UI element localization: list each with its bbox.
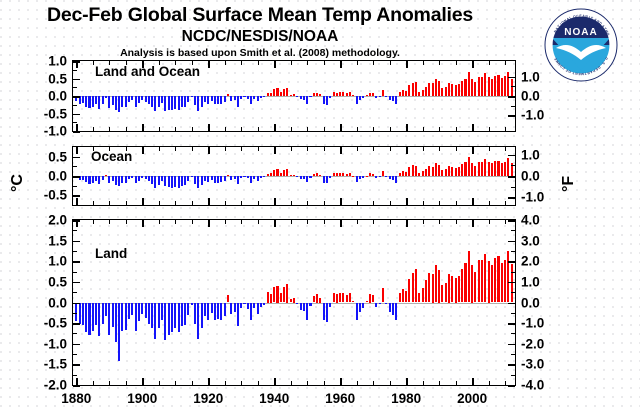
y-tick-label-right: -1.0 xyxy=(521,108,544,123)
panel-label-land-and-ocean: Land and Ocean xyxy=(95,64,200,79)
bar-1987 xyxy=(428,83,430,96)
bar-1983 xyxy=(415,82,417,96)
x-tick-top xyxy=(340,61,342,68)
bar-1978 xyxy=(399,173,401,176)
y-tick-right xyxy=(508,197,515,199)
x-tick-top xyxy=(225,147,226,151)
bar-1994 xyxy=(451,167,453,176)
bar-2006 xyxy=(491,163,493,176)
bar-1919 xyxy=(204,176,206,181)
bar-1882 xyxy=(82,303,84,326)
x-tick-top xyxy=(175,220,176,224)
y-tick-label-left: -0.5 xyxy=(44,316,67,331)
y-tick-label-left: -0.5 xyxy=(44,106,67,121)
bar-1926 xyxy=(227,295,229,302)
bar-1903 xyxy=(151,303,153,329)
x-tick-top xyxy=(274,147,276,154)
x-tick-top xyxy=(142,147,144,154)
bar-1884 xyxy=(88,303,90,335)
x-tick-top xyxy=(291,147,292,151)
bar-2010 xyxy=(504,162,506,176)
bar-1932 xyxy=(247,96,249,99)
bar-1942 xyxy=(280,92,282,96)
x-tick-bottom xyxy=(423,201,424,205)
x-tick-top xyxy=(472,61,474,68)
bar-2001 xyxy=(474,272,476,303)
bar-1886 xyxy=(95,176,97,181)
y-tick-label-left: -0.5 xyxy=(44,188,67,203)
bar-1961 xyxy=(342,293,344,302)
x-tick-top xyxy=(274,220,276,227)
bar-1972 xyxy=(379,96,381,97)
bar-1890 xyxy=(108,96,110,108)
bar-1885 xyxy=(92,176,94,183)
bar-1895 xyxy=(125,96,127,107)
bar-1960 xyxy=(339,293,341,303)
bar-2004 xyxy=(484,254,486,303)
bar-1972 xyxy=(379,176,381,177)
x-tick-top xyxy=(175,147,176,151)
bar-1996 xyxy=(458,167,460,176)
y-tick-label-right: 1.0 xyxy=(521,69,540,84)
bar-1965 xyxy=(356,96,358,104)
x-tick-bottom xyxy=(357,201,358,205)
y-tick-minor-left xyxy=(73,87,77,88)
bar-1886 xyxy=(95,303,97,326)
bar-1966 xyxy=(359,303,361,313)
x-tick-bottom xyxy=(406,378,408,385)
bar-1992 xyxy=(445,283,447,303)
bar-1885 xyxy=(92,303,94,332)
y-axis-unit-fahrenheit: °F xyxy=(560,176,578,192)
bar-1993 xyxy=(448,274,450,303)
bar-1944 xyxy=(286,284,288,303)
y-tick-label-right: 1.0 xyxy=(521,147,540,162)
bar-1910 xyxy=(174,96,176,109)
bar-1954 xyxy=(319,298,321,302)
y-tick-minor-right xyxy=(511,86,515,87)
x-tick-top xyxy=(456,220,457,224)
bar-1939 xyxy=(270,173,272,176)
bar-1950 xyxy=(306,303,308,320)
y-tick-right xyxy=(508,344,515,346)
bar-1951 xyxy=(309,303,311,306)
bar-1937 xyxy=(263,96,265,97)
x-tick-top xyxy=(291,61,292,65)
x-tick-bottom xyxy=(225,201,226,205)
bar-1998 xyxy=(464,263,466,303)
bar-1921 xyxy=(211,176,213,180)
bar-1953 xyxy=(316,93,318,97)
bar-1940 xyxy=(273,170,275,176)
panel-ocean: Ocean 0.50.0-0.51.00.0-1.0 xyxy=(72,146,516,206)
bar-1965 xyxy=(356,303,358,320)
bar-1976 xyxy=(392,176,394,180)
bar-1919 xyxy=(204,96,206,102)
bar-1899 xyxy=(138,303,140,322)
bar-1976 xyxy=(392,96,394,101)
bar-1938 xyxy=(267,292,269,302)
bar-1970 xyxy=(372,295,374,302)
bar-1922 xyxy=(214,176,216,183)
bar-2000 xyxy=(471,265,473,302)
bar-2004 xyxy=(484,73,486,96)
y-tick-left xyxy=(73,323,80,325)
bar-1974 xyxy=(385,176,387,177)
bar-1894 xyxy=(121,303,123,332)
x-tick-top xyxy=(208,61,210,68)
bar-1990 xyxy=(438,270,440,303)
noaa-logo-icon: NOAA N A T I O N A L O C E A N I C xyxy=(544,8,618,82)
x-tick-top xyxy=(357,147,358,151)
bar-1953 xyxy=(316,173,318,176)
bar-1961 xyxy=(342,173,344,176)
bar-1959 xyxy=(336,173,338,176)
bar-1909 xyxy=(171,303,173,333)
x-tick-bottom xyxy=(307,127,308,131)
x-tick-label: 1900 xyxy=(127,391,157,406)
bar-1966 xyxy=(359,96,361,100)
x-tick-top xyxy=(340,220,342,227)
x-tick-bottom xyxy=(258,127,259,131)
bar-1920 xyxy=(207,176,209,182)
bar-1918 xyxy=(201,176,203,185)
bar-1989 xyxy=(435,163,437,176)
panel-land: Land 2.01.51.00.50.0-0.5-1.0-1.5-2.04.03… xyxy=(72,219,516,386)
y-tick-minor-left xyxy=(73,292,77,293)
x-tick-top xyxy=(109,220,110,224)
bar-1978 xyxy=(399,92,401,96)
x-tick-bottom xyxy=(241,381,242,385)
bar-1998 xyxy=(464,162,466,176)
bar-1931 xyxy=(243,96,245,97)
bar-1987 xyxy=(428,273,430,303)
x-tick-bottom xyxy=(439,201,440,205)
panel-label-land: Land xyxy=(95,246,127,261)
bar-2008 xyxy=(497,161,499,176)
bar-1991 xyxy=(441,285,443,302)
bar-1896 xyxy=(128,96,130,102)
bar-1946 xyxy=(293,298,295,302)
bar-1986 xyxy=(425,169,427,176)
bar-2002 xyxy=(478,77,480,96)
bar-2004 xyxy=(484,159,486,176)
bar-1973 xyxy=(382,90,384,96)
x-tick-top xyxy=(324,61,325,65)
bar-1915 xyxy=(191,176,193,177)
y-tick-minor-right xyxy=(511,251,515,252)
x-tick-bottom xyxy=(258,381,259,385)
y-tick-left xyxy=(73,195,80,197)
bar-1955 xyxy=(323,303,325,320)
bar-1983 xyxy=(415,166,417,176)
bar-2002 xyxy=(478,162,480,176)
bar-1927 xyxy=(230,176,232,180)
y-tick-label-right: 4.0 xyxy=(521,213,540,228)
bar-1963 xyxy=(349,173,351,176)
x-tick-bottom xyxy=(324,127,325,131)
bar-1995 xyxy=(455,278,457,303)
bar-2001 xyxy=(474,166,476,176)
y-tick-minor-right xyxy=(511,292,515,293)
y-tick-label-left: 0.0 xyxy=(48,295,67,310)
bar-1974 xyxy=(385,96,387,97)
bar-2009 xyxy=(501,263,503,303)
x-tick-bottom xyxy=(390,201,391,205)
x-tick-bottom xyxy=(307,381,308,385)
x-tick-top xyxy=(406,61,408,68)
bar-1912 xyxy=(181,96,183,107)
bar-1890 xyxy=(108,303,110,335)
bar-1994 xyxy=(451,276,453,302)
y-tick-minor-left xyxy=(73,251,77,252)
x-tick-top xyxy=(225,220,226,224)
x-tick-bottom xyxy=(93,127,94,131)
x-tick-top xyxy=(390,61,391,65)
x-tick-top xyxy=(208,220,210,227)
x-tick-bottom xyxy=(340,124,342,131)
bar-1946 xyxy=(293,175,295,176)
bar-1959 xyxy=(336,294,338,302)
bar-1916 xyxy=(194,176,196,184)
x-tick-label: 1920 xyxy=(193,391,223,406)
bar-1919 xyxy=(204,303,206,316)
bar-1993 xyxy=(448,83,450,96)
x-tick-bottom xyxy=(489,201,490,205)
x-tick-bottom xyxy=(192,381,193,385)
bar-1963 xyxy=(349,92,351,96)
y-tick-right xyxy=(508,261,515,263)
y-tick-left xyxy=(73,344,80,346)
bar-1987 xyxy=(428,166,430,176)
y-tick-left xyxy=(73,131,80,133)
bar-1882 xyxy=(82,96,84,103)
bar-1901 xyxy=(145,96,147,102)
bar-1917 xyxy=(197,96,199,111)
x-tick-bottom xyxy=(159,127,160,131)
chart-canvas: Dec-Feb Global Surface Mean Temp Anomali… xyxy=(0,0,640,413)
bar-1880 xyxy=(75,303,77,322)
bar-1934 xyxy=(253,176,255,179)
y-tick-label-right: -3.0 xyxy=(521,357,544,372)
bar-1925 xyxy=(224,303,226,316)
bar-1941 xyxy=(276,286,278,303)
x-tick-bottom xyxy=(274,124,276,131)
bar-1964 xyxy=(352,95,354,96)
x-tick-top xyxy=(324,147,325,151)
bar-1884 xyxy=(88,96,90,108)
y-tick-right xyxy=(508,241,515,243)
bar-1935 xyxy=(257,303,259,315)
bar-1893 xyxy=(118,176,120,186)
bar-1890 xyxy=(108,176,110,183)
x-tick-bottom xyxy=(93,381,94,385)
bar-1942 xyxy=(280,173,282,176)
bar-1945 xyxy=(290,299,292,302)
bar-1996 xyxy=(458,84,460,96)
x-tick-top xyxy=(76,61,78,68)
y-tick-label-right: 1.0 xyxy=(521,274,540,289)
bar-2008 xyxy=(497,75,499,96)
x-tick-top xyxy=(472,220,474,227)
y-tick-label-right: 3.0 xyxy=(521,233,540,248)
bar-1948 xyxy=(300,176,302,179)
x-tick-bottom xyxy=(258,201,259,205)
agency-subtitle: NCDC/NESDIS/NOAA xyxy=(0,28,520,46)
x-tick-top xyxy=(274,61,276,68)
bar-1897 xyxy=(131,303,133,315)
x-tick-bottom xyxy=(439,381,440,385)
bar-1963 xyxy=(349,293,351,303)
y-tick-minor-left xyxy=(73,313,77,314)
bar-1965 xyxy=(356,176,358,182)
y-tick-minor-right xyxy=(511,313,515,314)
bar-1936 xyxy=(260,303,262,307)
bar-1934 xyxy=(253,303,255,309)
x-tick-bottom xyxy=(357,127,358,131)
y-tick-minor-right xyxy=(511,333,515,334)
x-tick-top xyxy=(258,220,259,224)
bar-1989 xyxy=(435,79,437,96)
bar-1940 xyxy=(273,89,275,96)
bar-1995 xyxy=(455,85,457,96)
bar-1935 xyxy=(257,176,259,181)
bar-1899 xyxy=(138,176,140,181)
x-tick-top xyxy=(505,61,506,65)
x-tick-bottom xyxy=(225,127,226,131)
bar-1905 xyxy=(158,303,160,329)
x-tick-bottom xyxy=(93,201,94,205)
x-tick-bottom xyxy=(126,381,127,385)
bar-1968 xyxy=(366,301,368,303)
x-tick-bottom xyxy=(505,381,506,385)
x-tick-bottom xyxy=(324,381,325,385)
y-tick-label-right: 0.0 xyxy=(521,89,540,104)
x-tick-bottom xyxy=(76,198,78,205)
bar-1884 xyxy=(88,176,90,184)
x-tick-top xyxy=(472,147,474,154)
y-tick-label-right: -4.0 xyxy=(521,378,544,393)
x-tick-label: 1960 xyxy=(325,391,355,406)
bar-1957 xyxy=(329,176,331,178)
x-tick-bottom xyxy=(505,127,506,131)
y-tick-minor-right xyxy=(511,354,515,355)
x-tick-bottom xyxy=(307,201,308,205)
bar-1989 xyxy=(435,265,437,303)
bar-1997 xyxy=(461,269,463,303)
bar-1924 xyxy=(220,96,222,104)
bar-1980 xyxy=(405,291,407,303)
x-tick-top xyxy=(505,147,506,151)
y-tick-minor-right xyxy=(511,106,515,107)
x-tick-bottom xyxy=(142,198,144,205)
bar-1907 xyxy=(164,176,166,186)
x-tick-bottom xyxy=(390,381,391,385)
y-tick-minor-left xyxy=(73,354,77,355)
bar-1911 xyxy=(178,303,180,333)
bar-1888 xyxy=(102,303,104,324)
x-tick-bottom xyxy=(340,378,342,385)
bar-1991 xyxy=(441,88,443,96)
x-tick-top xyxy=(373,220,374,224)
bar-1889 xyxy=(105,175,107,176)
bar-1907 xyxy=(164,96,166,111)
plot-area-ocean xyxy=(73,147,515,205)
x-tick-bottom xyxy=(208,198,210,205)
x-tick-top xyxy=(406,220,408,227)
bar-1958 xyxy=(333,173,335,176)
x-tick-top xyxy=(505,220,506,224)
bar-1974 xyxy=(385,303,387,305)
bar-1949 xyxy=(303,96,305,100)
x-tick-bottom xyxy=(456,127,457,131)
bar-1938 xyxy=(267,93,269,97)
bar-1957 xyxy=(329,303,331,308)
x-tick-top xyxy=(357,220,358,224)
bar-1908 xyxy=(168,96,170,110)
bar-1948 xyxy=(300,96,302,99)
bar-1975 xyxy=(389,96,391,100)
x-tick-top xyxy=(192,147,193,151)
x-tick-bottom xyxy=(76,124,78,131)
bar-1976 xyxy=(392,303,394,315)
x-tick-top xyxy=(439,220,440,224)
x-tick-top xyxy=(208,147,210,154)
y-tick-right xyxy=(508,385,515,387)
bar-2010 xyxy=(504,76,506,96)
bar-1935 xyxy=(257,96,259,101)
bar-1966 xyxy=(359,176,361,179)
bar-1969 xyxy=(369,294,371,302)
bar-1899 xyxy=(138,96,140,103)
bar-1915 xyxy=(191,303,193,305)
bar-1897 xyxy=(131,176,133,178)
bar-1956 xyxy=(326,303,328,323)
bar-1920 xyxy=(207,96,209,104)
y-tick-label-left: 0.0 xyxy=(48,89,67,104)
y-tick-minor-left xyxy=(73,105,77,106)
bar-2003 xyxy=(481,162,483,176)
bar-1967 xyxy=(362,303,364,309)
y-tick-label-left: -1.0 xyxy=(44,124,67,139)
bar-1981 xyxy=(408,167,410,176)
bar-1969 xyxy=(369,173,371,176)
x-tick-label: 1980 xyxy=(391,391,421,406)
bar-1982 xyxy=(412,273,414,303)
bar-1971 xyxy=(375,303,377,307)
bar-1887 xyxy=(98,96,100,109)
x-tick-bottom xyxy=(274,198,276,205)
bar-1954 xyxy=(319,94,321,96)
y-tick-label-right: 2.0 xyxy=(521,254,540,269)
x-tick-top xyxy=(406,147,408,154)
x-tick-bottom xyxy=(406,124,408,131)
bar-1925 xyxy=(224,176,226,181)
panel-land-and-ocean: Land and Ocean 1.00.50.0-0.5-1.01.00.0-1… xyxy=(72,60,516,132)
x-tick-bottom xyxy=(192,201,193,205)
x-tick-top xyxy=(373,147,374,151)
bar-1900 xyxy=(141,96,143,100)
x-tick-top xyxy=(93,61,94,65)
x-tick-top xyxy=(142,220,144,227)
y-tick-left xyxy=(73,114,80,116)
y-tick-right xyxy=(508,303,515,305)
bar-1929 xyxy=(237,96,239,107)
bar-1948 xyxy=(300,303,302,310)
bar-1914 xyxy=(187,96,189,102)
y-tick-left xyxy=(73,385,80,387)
bar-2011 xyxy=(507,158,509,176)
